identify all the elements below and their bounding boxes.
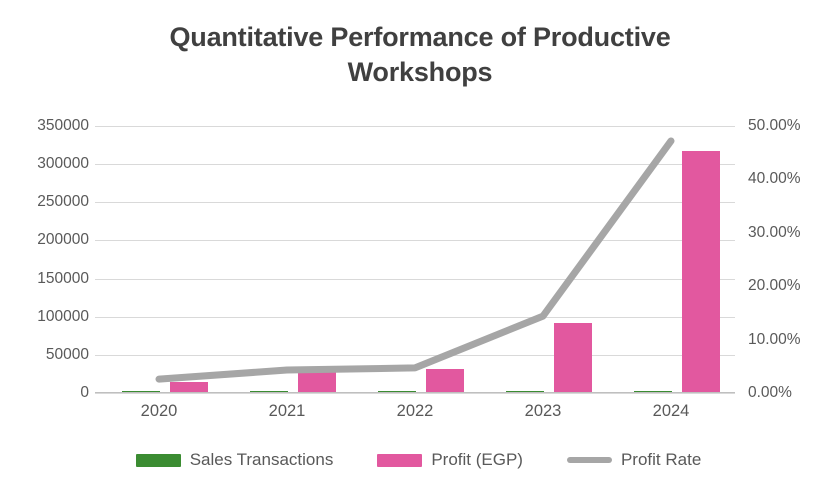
bar-profit-egp-2023 (554, 323, 592, 393)
legend-item[interactable]: Profit (EGP) (377, 450, 523, 470)
x-axis-tick-label: 2023 (525, 402, 562, 421)
y2-axis-tick-label: 10.00% (748, 331, 837, 349)
profit-rate-line (95, 126, 735, 393)
gridline (95, 202, 735, 203)
chart-container: Quantitative Performance of Productive W… (0, 0, 837, 502)
x-axis-tick-label: 2021 (269, 402, 306, 421)
bar-profit-egp-2024 (682, 151, 720, 393)
legend-swatch-icon (136, 454, 181, 467)
legend-item[interactable]: Sales Transactions (136, 450, 334, 470)
chart-legend: Sales TransactionsProfit (EGP)Profit Rat… (0, 450, 837, 470)
y-axis-tick-label: 300000 (0, 155, 89, 173)
y-axis-tick-label: 50000 (0, 346, 89, 364)
y-axis-tick-label: 200000 (0, 231, 89, 249)
bar-profit-egp-2022 (426, 369, 464, 393)
y2-axis-tick-label: 20.00% (748, 277, 837, 295)
bar-profit-egp-2021 (298, 370, 336, 393)
y2-axis-tick-label: 0.00% (748, 384, 837, 402)
x-axis-tick-label: 2024 (653, 402, 690, 421)
gridline (95, 279, 735, 280)
y2-axis-tick-label: 40.00% (748, 170, 837, 188)
gridline (95, 164, 735, 165)
y2-axis-tick-label: 50.00% (748, 117, 837, 135)
y-axis-tick-label: 350000 (0, 117, 89, 135)
legend-swatch-icon (377, 454, 422, 467)
legend-item[interactable]: Profit Rate (567, 450, 701, 470)
legend-swatch-icon (567, 457, 612, 463)
gridline (95, 317, 735, 318)
x-axis-baseline (95, 392, 735, 393)
y2-axis-tick-label: 30.00% (748, 224, 837, 242)
y-axis-tick-label: 100000 (0, 308, 89, 326)
legend-label: Profit Rate (621, 450, 701, 470)
plot-area (95, 126, 735, 393)
profit-rate-polyline (159, 141, 671, 379)
gridline (95, 355, 735, 356)
chart-title: Quantitative Performance of Productive W… (110, 20, 730, 89)
y-axis-tick-label: 250000 (0, 193, 89, 211)
gridline (95, 393, 735, 394)
legend-label: Sales Transactions (190, 450, 334, 470)
legend-label: Profit (EGP) (431, 450, 523, 470)
x-axis-tick-label: 2022 (397, 402, 434, 421)
gridline (95, 240, 735, 241)
y-axis-tick-label: 0 (0, 384, 89, 402)
x-axis-tick-label: 2020 (141, 402, 178, 421)
y-axis-tick-label: 150000 (0, 270, 89, 288)
gridline (95, 126, 735, 127)
